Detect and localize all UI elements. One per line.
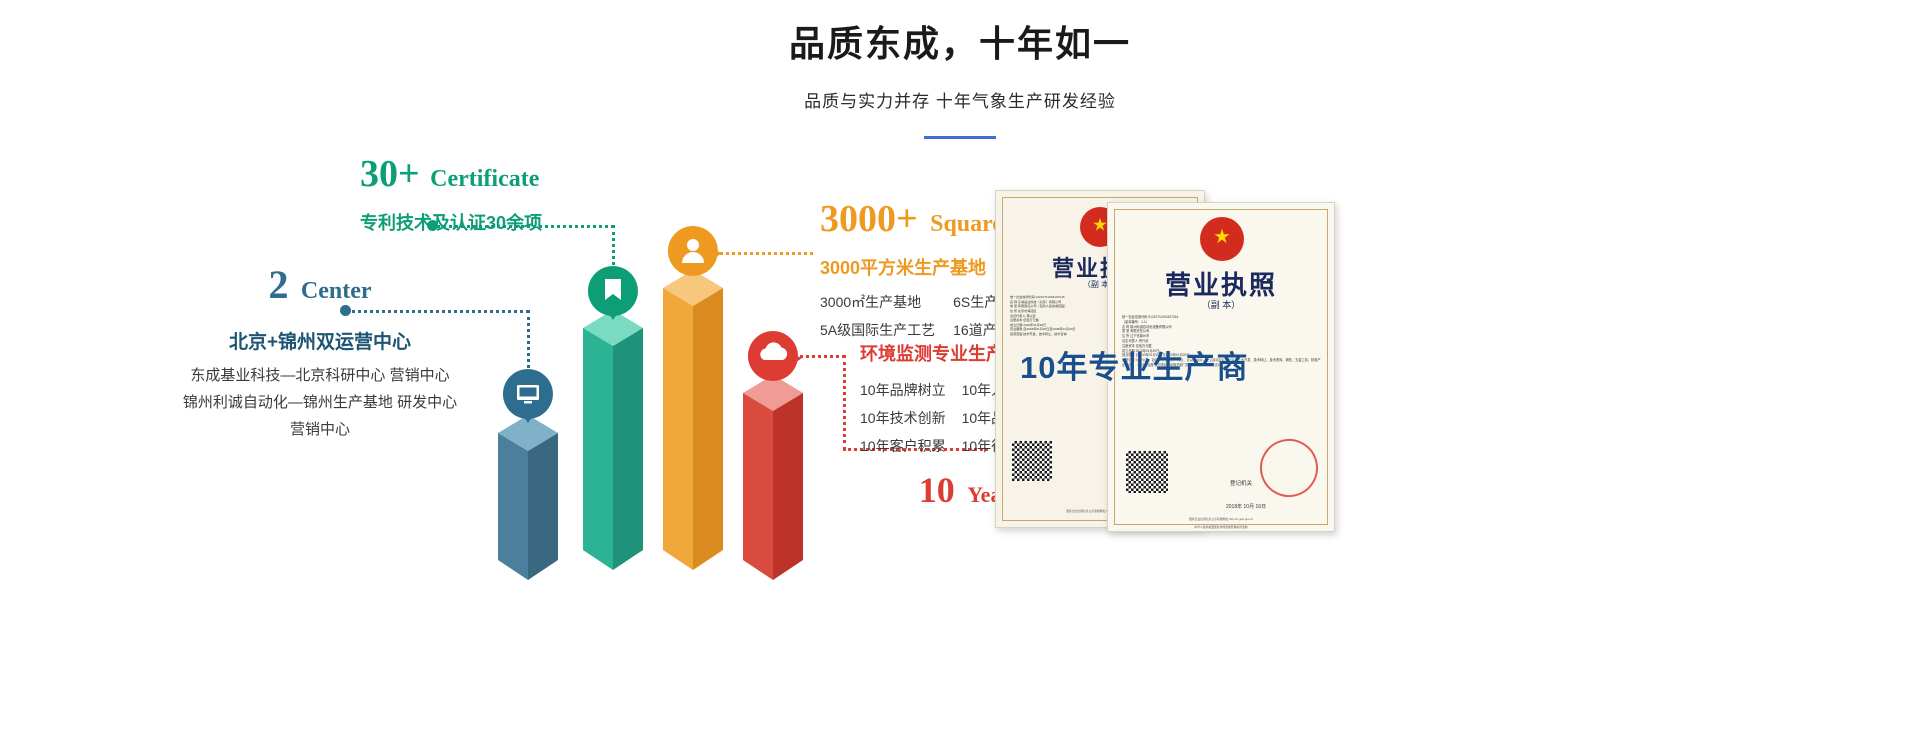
group-square-line-2: 5A级国际生产工艺 (820, 320, 935, 340)
connector-square-horizontal (715, 252, 813, 255)
header-divider (924, 136, 996, 139)
group-certificate-unit: Certificate (430, 166, 539, 192)
group-square-number: 3000+ (820, 198, 918, 240)
group-center-headline: 北京+锦州双运营中心 (120, 327, 520, 354)
page-root: 品质东成，十年如一 品质与实力并存 十年气象生产研发经验 2 Center (0, 0, 1920, 747)
group-year-number: 10 (919, 470, 955, 510)
certificates-overlay-text: 10年专业生产商 (1020, 342, 1248, 387)
group-center-line-0: 东成基业科技—北京科研中心 营销中心 (120, 364, 520, 385)
header: 品质东成，十年如一 品质与实力并存 十年气象生产研发经验 (0, 0, 1920, 139)
bar-year (735, 365, 855, 595)
group-certificate-number: 30+ (360, 153, 420, 195)
group-center: 2 Center 北京+锦州双运营中心 东成基业科技—北京科研中心 营销中心 锦… (120, 265, 520, 439)
group-year-line-4: 10年客户积累 (860, 436, 946, 456)
certificate-front-date: 2018年 10月 16日 (1226, 503, 1266, 510)
certificate-front-footer2: 中华人民共和国国家市场监督管理总局监制 (1108, 525, 1334, 529)
group-square-line-0: 3000㎡生产基地 (820, 292, 935, 312)
certificate-front-subtitle: （副 本） (1108, 298, 1334, 311)
national-emblem-icon-front (1200, 217, 1244, 261)
page-subtitle: 品质与实力并存 十年气象生产研发经验 (0, 65, 1920, 112)
group-center-unit: Center (301, 278, 372, 304)
group-square-unit: Square (930, 211, 1003, 237)
certificate-front-title: 营业执照 (1108, 265, 1334, 302)
group-center-number: 2 (268, 262, 288, 307)
group-certificate-headline: 专利技术及认证30余项 (360, 209, 700, 235)
certificate-front-authority: 登记机关 (1230, 479, 1252, 487)
group-year-line-2: 10年技术创新 (860, 408, 946, 428)
book-icon (582, 262, 644, 322)
infographic: 2 Center 北京+锦州双运营中心 东成基业科技—北京科研中心 营销中心 锦… (0, 150, 1100, 730)
group-certificate: 30+ Certificate 专利技术及认证30余项 (360, 155, 700, 235)
group-center-line-1: 锦州利诚自动化—锦州生产基地 研发中心 (120, 391, 520, 412)
group-year-line-0: 10年品牌树立 (860, 380, 946, 400)
page-title: 品质东成，十年如一 (0, 0, 1920, 65)
cloud-icon (742, 327, 804, 389)
connector-year-vertical (843, 355, 846, 450)
certificate-back-qr-code (1012, 441, 1052, 481)
certificate-front-footer: 国家企业信用信息公示系统网址 http://ln.gsxt.gov.cn (1108, 517, 1334, 521)
connector-center-vertical (527, 310, 530, 368)
group-center-line-2: 营销中心 (120, 418, 520, 439)
connector-year-horizontal (795, 355, 845, 358)
certificate-front-qr-code (1126, 451, 1168, 493)
